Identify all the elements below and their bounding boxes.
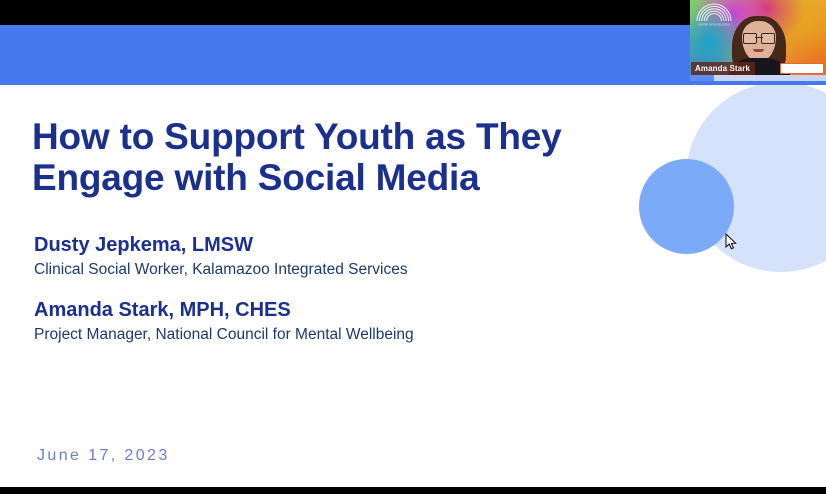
presenter-entry: Dusty Jepkema, LMSW Clinical Social Work… [34, 233, 594, 280]
presenter-list: Dusty Jepkema, LMSW Clinical Social Work… [34, 233, 594, 363]
presenter-role: Clinical Social Worker, Kalamazoo Integr… [34, 260, 594, 280]
presenter-name: Amanda Stark, MPH, CHES [34, 298, 594, 322]
glasses-left-lens [743, 33, 757, 44]
presenter-name: Dusty Jepkema, LMSW [34, 233, 594, 257]
presenter-entry: Amanda Stark, MPH, CHES Project Manager,… [34, 298, 594, 345]
slide-date: June 17, 2023 [37, 447, 170, 465]
presenter-role: Project Manager, National Council for Me… [34, 325, 594, 345]
slide-title: How to Support Youth as They Engage with… [32, 116, 652, 198]
bottom-black-bar [0, 487, 826, 494]
participant-name-label: Amanda Stark [691, 62, 755, 76]
screen-capture: How to Support Youth as They Engage with… [0, 0, 826, 494]
presentation-slide: How to Support Youth as They Engage with… [0, 85, 826, 487]
participant-video-tile[interactable]: CENTER OF EXCELLENCE Amanda Stark [690, 0, 826, 81]
decorative-medium-circle [639, 159, 734, 254]
video-overlay-pill [780, 63, 824, 74]
rainbow-arc-logo-icon: CENTER OF EXCELLENCE [693, 3, 735, 27]
video-bottom-strip [690, 75, 826, 81]
video-bottom-strip-corner [690, 75, 714, 81]
svg-text:CENTER OF EXCELLENCE: CENTER OF EXCELLENCE [698, 22, 731, 26]
glasses-icon [743, 33, 775, 42]
glasses-right-lens [761, 33, 775, 44]
mouth-shape [753, 49, 764, 52]
